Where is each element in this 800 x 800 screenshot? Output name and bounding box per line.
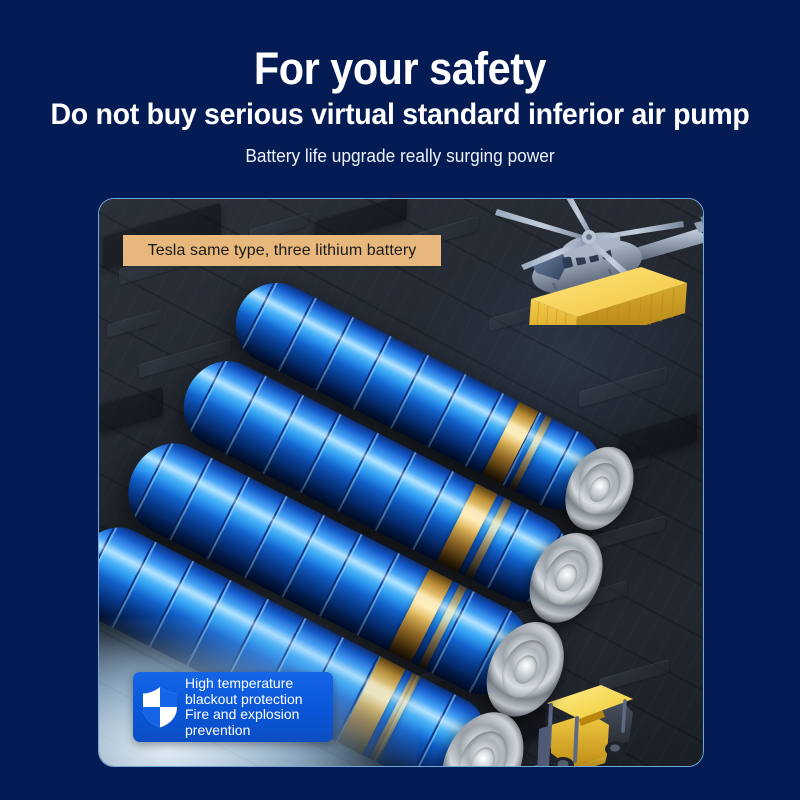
tesla-banner-label: Tesla same type, three lithium battery — [148, 242, 417, 260]
page-subtitle: Do not buy serious virtual standard infe… — [20, 97, 780, 133]
status-badge: High temperature blackout protection Fir… — [133, 672, 333, 742]
header: For your safety Do not buy serious virtu… — [0, 0, 800, 190]
badge-line-1: High temperature — [185, 676, 303, 692]
badge-line-3: Fire and explosion — [185, 707, 303, 723]
badge-line-2: blackout protection — [185, 692, 303, 708]
badge-line-4: prevention — [185, 723, 303, 739]
page-title: For your safety — [32, 44, 768, 94]
status-badge-text: High temperature blackout protection Fir… — [185, 676, 303, 738]
product-photo: Tesla same type, three lithium battery — [98, 198, 704, 767]
page-tagline: Battery life upgrade really surging powe… — [16, 144, 784, 168]
tesla-banner: Tesla same type, three lithium battery — [123, 235, 441, 266]
product-poster: For your safety Do not buy serious virtu… — [0, 0, 800, 800]
shield-icon — [140, 685, 180, 729]
